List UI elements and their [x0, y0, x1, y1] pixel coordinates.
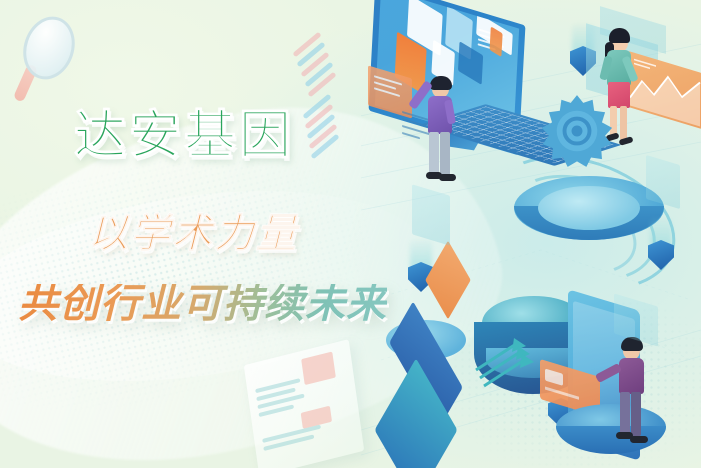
orange-diamond-card	[425, 241, 471, 320]
tagline-line-1: 以学术力量	[88, 214, 298, 254]
gear-icon	[538, 92, 616, 170]
shield-icon	[648, 240, 674, 270]
platform-disc	[514, 176, 664, 258]
server-cylinder-icon	[376, 390, 474, 468]
floating-doc-card	[412, 184, 450, 245]
tagline-line-2: 共创行业可持续未来	[18, 284, 387, 324]
person-at-monitor	[418, 74, 464, 190]
promo-banner: 达安基因 以学术力量 共创行业可持续未来	[0, 0, 701, 468]
person-with-phone	[610, 336, 658, 448]
data-flow-arrows-icon	[474, 330, 544, 390]
headline-copy: 达安基因 以学术力量 共创行业可持续未来	[0, 0, 360, 468]
brand-title: 达安基因	[74, 110, 294, 162]
